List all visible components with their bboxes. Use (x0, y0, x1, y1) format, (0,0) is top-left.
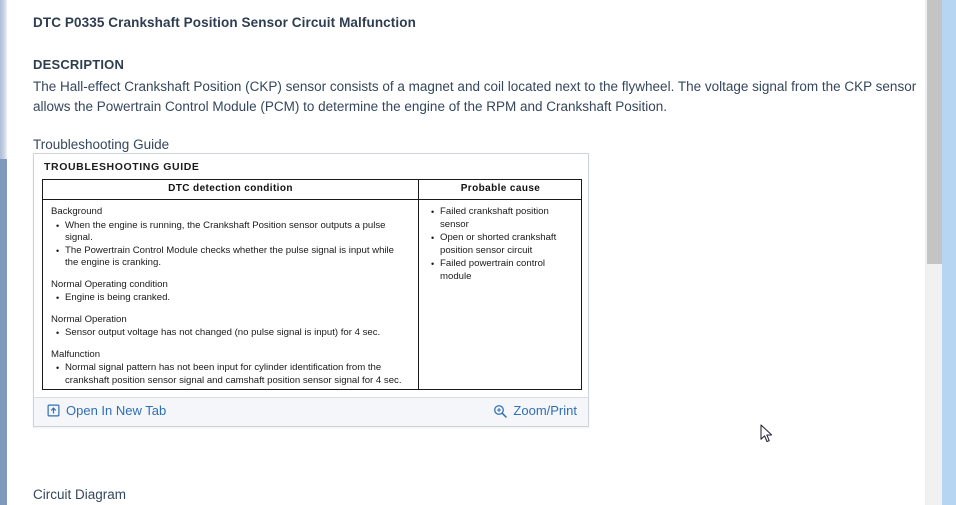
open-in-new-tab-label: Open In New Tab (66, 403, 166, 418)
open-in-new-tab-icon (46, 404, 60, 418)
list-item: Engine is being cranked. (65, 292, 409, 305)
bullet-list: Engine is being cranked. (51, 292, 409, 305)
magnifier-plus-icon (493, 404, 507, 418)
list-item: Failed crankshaft position sensor (440, 206, 578, 231)
group-heading: Background (51, 206, 409, 219)
group-malfunction: Malfunction Normal signal pattern has no… (51, 349, 409, 388)
inner-scrollbar-track[interactable] (925, 0, 942, 505)
inner-scrollbar-thumb[interactable] (927, 0, 942, 264)
scanned-table-image[interactable]: TROUBLESHOOTING GUIDE DTC detection cond… (34, 154, 588, 398)
table-cell-probable-cause: Failed crankshaft position sensor Open o… (420, 201, 582, 284)
group-heading: Normal Operating condition (51, 279, 409, 292)
browser-left-edge-highlight (0, 0, 7, 159)
group-background: Background When the engine is running, t… (51, 206, 409, 270)
group-normal-operation: Normal Operation Sensor output voltage h… (51, 314, 409, 340)
browser-scrollbar-thumb[interactable] (942, 0, 956, 505)
page-title: DTC P0335 Crankshaft Position Sensor Cir… (33, 15, 416, 30)
bullet-list: When the engine is running, the Cranksha… (51, 220, 409, 270)
bullet-list: Normal signal pattern has not been input… (51, 362, 409, 387)
document-content: DTC P0335 Crankshaft Position Sensor Cir… (7, 0, 925, 505)
column-header-dtc-detection-condition: DTC detection condition (43, 183, 418, 194)
list-item: The Powertrain Control Module checks whe… (65, 245, 409, 270)
figure-action-bar: Open In New Tab Zoom/Print (34, 397, 588, 426)
bullet-list: Sensor output voltage has not changed (n… (51, 327, 409, 340)
list-item: Failed powertrain control module (440, 258, 578, 283)
zoom-print-button[interactable]: Zoom/Print (493, 403, 577, 418)
column-header-probable-cause: Probable cause (419, 183, 582, 194)
table-cell-detection-condition: Background When the engine is running, t… (43, 201, 417, 387)
group-heading: Normal Operation (51, 314, 409, 327)
group-heading: Malfunction (51, 349, 409, 362)
figure-card: TROUBLESHOOTING GUIDE DTC detection cond… (33, 153, 589, 427)
troubleshooting-table: DTC detection condition Probable cause B… (42, 179, 582, 390)
browser-scrollbar-track[interactable] (942, 0, 956, 505)
scan-title: TROUBLESHOOTING GUIDE (44, 161, 200, 173)
description-paragraph: The Hall-effect Crankshaft Position (CKP… (33, 77, 921, 117)
list-item: Open or shorted crankshaft position sens… (440, 232, 578, 257)
bullet-list: Failed crankshaft position sensor Open o… (426, 206, 578, 283)
list-item: Normal signal pattern has not been input… (65, 362, 409, 387)
section-heading-description: DESCRIPTION (33, 57, 124, 72)
table-header-row: DTC detection condition Probable cause (43, 180, 581, 200)
list-item: Sensor output voltage has not changed (n… (65, 327, 409, 340)
figure-caption-troubleshooting-guide: Troubleshooting Guide (33, 137, 169, 152)
group-normal-operating-condition: Normal Operating condition Engine is bei… (51, 279, 409, 305)
open-in-new-tab-button[interactable]: Open In New Tab (46, 403, 166, 418)
list-item: When the engine is running, the Cranksha… (65, 220, 409, 245)
app-root: DTC P0335 Crankshaft Position Sensor Cir… (0, 0, 956, 505)
zoom-print-label: Zoom/Print (513, 403, 577, 418)
figure-caption-circuit-diagram: Circuit Diagram (33, 487, 126, 502)
